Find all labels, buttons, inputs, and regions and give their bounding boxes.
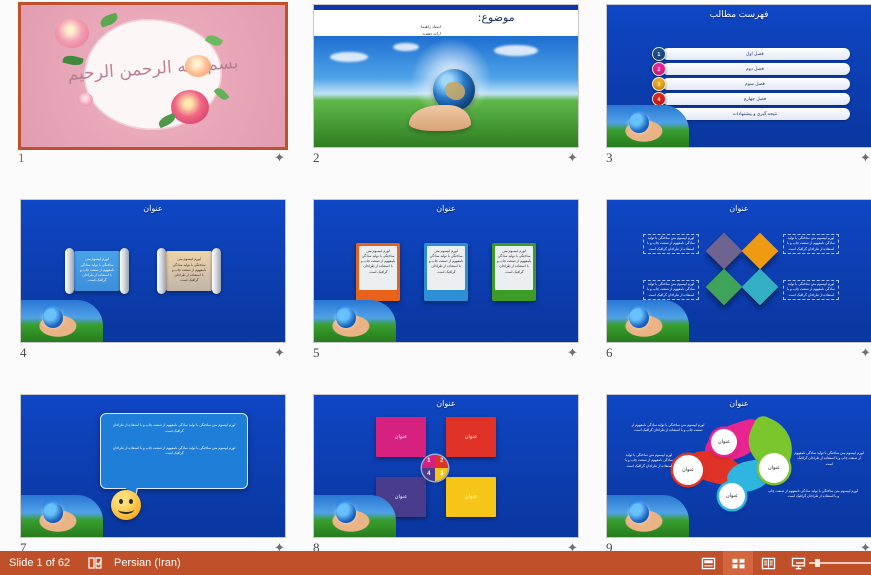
slide-4-canvas: عنوان لورم ایپسوم متن ساختگی با تولید سا… <box>21 200 285 342</box>
slide-9-canvas: عنوان عنوان عنوان عنوان عنوان <box>607 395 871 537</box>
cloud-icon <box>330 52 368 62</box>
diamond-caption: لورم ایپسوم متن ساختگی با تولید سادگی نا… <box>643 234 699 254</box>
slide-3-frame[interactable]: فهرست مطالب فصل اول 1 فصل دوم 2 <box>606 4 871 148</box>
swirl-node[interactable]: عنوان <box>719 483 745 509</box>
zoom-control[interactable] <box>796 551 871 575</box>
toc-item[interactable]: فصل اول 1 <box>652 48 850 61</box>
star-icon[interactable]: ✦ <box>566 541 579 551</box>
slide-4-meta: 4 ✦ <box>20 345 286 363</box>
slide-thumbnail-2[interactable]: موضوع: استاد راهنما: ارائه دهنده: 2 ✦ <box>307 0 587 170</box>
slide-1-frame[interactable]: بسم الله الرحمن الرحیم <box>18 2 288 150</box>
flower-bud-icon <box>79 93 93 106</box>
toc-item[interactable]: فصل سوم 3 <box>652 78 850 91</box>
slide-thumbnail-8[interactable]: عنوان عنوان عنوان عنوان عنوان 1 <box>307 390 587 551</box>
toc-badge: 4 <box>652 92 666 106</box>
slide-6-meta: 6 ✦ <box>606 345 871 363</box>
slide-9-frame[interactable]: عنوان عنوان عنوان عنوان عنوان <box>606 394 871 538</box>
view-buttons <box>693 551 813 575</box>
quadrant-label: عنوان <box>446 494 496 500</box>
content-card[interactable]: لورم ایپسوم متن ساختگی با تولید سادگی نا… <box>356 243 400 301</box>
slide-2-meta: 2 ✦ <box>313 150 579 168</box>
globe-in-hand-icon <box>607 300 689 342</box>
slide-number: 9 <box>606 540 613 551</box>
swirl-node[interactable]: عنوان <box>673 455 703 485</box>
cloud-icon <box>393 43 419 51</box>
slide-4-frame[interactable]: عنوان لورم ایپسوم متن ساختگی با تولید سا… <box>20 199 286 343</box>
hub-number: 2 <box>435 455 448 468</box>
slide-number: 2 <box>313 150 320 166</box>
toc-item-label: فصل دوم <box>666 63 844 75</box>
toc-badge: 2 <box>652 62 666 76</box>
presenter-label: ارائه دهنده: <box>420 31 441 38</box>
card-body-text: لورم ایپسوم متن ساختگی با تولید سادگی نا… <box>496 249 532 275</box>
powerpoint-slide-sorter-window: بسم الله الرحمن الرحیم 1 ✦ <box>0 0 871 575</box>
language-indicator[interactable]: Persian (Iran) <box>114 551 181 575</box>
quadrant-card[interactable]: عنوان <box>376 417 426 457</box>
flower-icon <box>55 18 89 48</box>
flower-icon <box>171 90 209 124</box>
zoom-slider[interactable] <box>809 562 871 564</box>
toc-badge: 1 <box>652 47 666 61</box>
slide-8-meta: 8 ✦ <box>313 540 579 551</box>
swirl-node-label: عنوان <box>711 429 737 455</box>
smiley-face-icon <box>111 490 141 520</box>
slide-thumbnail-7[interactable]: لورم ایپسوم متن ساختگی با تولید سادگی نا… <box>14 390 294 551</box>
swirl-caption: لورم ایپسوم متن ساختگی با تولید سادگی نا… <box>631 423 705 434</box>
slide-thumbnail-6[interactable]: عنوان لورم ایپسوم متن ساختگی با تولید سا… <box>600 195 871 365</box>
globe-in-hand-icon <box>21 300 103 342</box>
slide-thumbnail-5[interactable]: عنوان لورم ایپسوم متن ساختگی با تولید سا… <box>307 195 587 365</box>
star-icon[interactable]: ✦ <box>566 151 579 164</box>
zoom-slider-handle[interactable] <box>815 559 820 567</box>
slide-5-canvas: عنوان لورم ایپسوم متن ساختگی با تولید سا… <box>314 200 578 342</box>
slide-number: 1 <box>18 150 25 166</box>
slide-3-canvas: فهرست مطالب فصل اول 1 فصل دوم 2 <box>607 5 871 147</box>
swirl-caption: لورم ایپسوم متن ساختگی با تولید سادگی نا… <box>767 489 859 500</box>
toc-item-label: فصل چهارم <box>666 93 844 105</box>
diamond-caption: لورم ایپسوم متن ساختگی با تولید سادگی نا… <box>643 280 699 300</box>
slide-5-frame[interactable]: عنوان لورم ایپسوم متن ساختگی با تولید سا… <box>313 199 579 343</box>
swirl-node-label: عنوان <box>759 453 789 483</box>
status-bar: Slide 1 of 62 Persian (Iran) <box>0 551 871 575</box>
scroll-rod-icon <box>65 248 74 294</box>
slide-7-canvas: لورم ایپسوم متن ساختگی با تولید سادگی نا… <box>21 395 285 537</box>
swirl-node[interactable]: عنوان <box>711 429 737 455</box>
slide-thumbnail-3[interactable]: فهرست مطالب فصل اول 1 فصل دوم 2 <box>600 0 871 170</box>
toc-item-label: فصل سوم <box>666 78 844 90</box>
swirl-node-label: عنوان <box>719 483 745 509</box>
slide-2-top-bar <box>314 5 578 10</box>
slide-5-meta: 5 ✦ <box>313 345 579 363</box>
eye-shape <box>129 499 133 504</box>
slide-8-canvas: عنوان عنوان عنوان عنوان عنوان 1 <box>314 395 578 537</box>
slide-number: 7 <box>20 540 27 551</box>
slide-6-canvas: عنوان لورم ایپسوم متن ساختگی با تولید سا… <box>607 200 871 342</box>
slide-thumbnail-1[interactable]: بسم الله الرحمن الرحیم 1 ✦ <box>14 0 294 170</box>
globe-in-hand-icon <box>314 495 396 537</box>
scroll-rod-icon <box>157 248 166 294</box>
globe-in-hand-icon <box>607 495 689 537</box>
slide-title: عنوان <box>21 204 285 213</box>
slide-number: 4 <box>20 345 27 361</box>
toc-item[interactable]: فصل دوم 2 <box>652 63 850 76</box>
center-hub: 1 2 3 4 <box>422 455 448 481</box>
content-card[interactable]: لورم ایپسوم متن ساختگی با تولید سادگی نا… <box>424 243 468 301</box>
globe-in-hand-photo <box>314 36 578 147</box>
topic-title: موضوع: <box>478 11 515 24</box>
hub-number: 1 <box>422 455 435 468</box>
leaf-icon <box>213 86 229 103</box>
slide-8-frame[interactable]: عنوان عنوان عنوان عنوان عنوان 1 <box>313 394 579 538</box>
slide-2-header-band <box>314 10 578 36</box>
quadrant-card[interactable]: عنوان <box>446 417 496 457</box>
swirl-caption: لورم ایپسوم متن ساختگی با تولید سادگی نا… <box>793 451 865 467</box>
normal-view-icon[interactable] <box>693 551 723 575</box>
supervisor-label: استاد راهنما: <box>420 24 441 31</box>
slide-thumbnail-4[interactable]: عنوان لورم ایپسوم متن ساختگی با تولید سا… <box>14 195 294 365</box>
star-icon[interactable]: ✦ <box>273 151 286 164</box>
supervisor-and-presenter: استاد راهنما: ارائه دهنده: <box>420 24 441 38</box>
slide-number: 8 <box>313 540 320 551</box>
toc-item-label: فصل اول <box>666 48 844 60</box>
globe-in-hand-icon <box>607 105 689 147</box>
quadrant-card[interactable]: عنوان <box>446 477 496 517</box>
slide-3-meta: 3 ✦ <box>606 150 871 168</box>
quadrant-label: عنوان <box>446 434 496 440</box>
slide-number: 6 <box>606 345 613 361</box>
hand-icon <box>409 105 471 131</box>
scroll-left: لورم ایپسوم متن ساختگی با تولید سادگی نا… <box>65 248 129 294</box>
slide-2-frame[interactable]: موضوع: استاد راهنما: ارائه دهنده: <box>313 4 579 148</box>
card-body-text: لورم ایپسوم متن ساختگی با تولید سادگی نا… <box>360 249 396 275</box>
swirl-node-label: عنوان <box>673 455 703 485</box>
slide-counter[interactable]: Slide 1 of 62 <box>9 551 70 575</box>
scroll-rod-icon <box>120 248 129 294</box>
book-check-icon[interactable] <box>88 556 104 570</box>
content-card[interactable]: لورم ایپسوم متن ساختگی با تولید سادگی نا… <box>492 243 536 301</box>
hub-number: 4 <box>422 468 435 481</box>
slide-7-meta: 7 ✦ <box>20 540 286 551</box>
scroll-rod-icon <box>212 248 221 294</box>
slide-title: عنوان <box>607 204 871 213</box>
scroll-body-text: لورم ایپسوم متن ساختگی با تولید سادگی نا… <box>171 257 207 283</box>
swirl-node[interactable]: عنوان <box>759 453 789 483</box>
slide-6-frame[interactable]: عنوان لورم ایپسوم متن ساختگی با تولید سا… <box>606 199 871 343</box>
swirl-caption: لورم ایپسوم متن ساختگی با تولید سادگی نا… <box>621 453 677 469</box>
globe-in-hand-icon <box>21 495 103 537</box>
slide-number: 3 <box>606 150 613 166</box>
toc-item-label: نتیجه گیری و پیشنهادات <box>666 108 844 120</box>
zoom-out-icon[interactable] <box>796 562 805 564</box>
slide-title: عنوان <box>607 399 871 408</box>
slide-1-background: بسم الله الرحمن الرحیم <box>21 5 285 147</box>
scroll-right: لورم ایپسوم متن ساختگی با تولید سادگی نا… <box>157 248 221 294</box>
card-body-text: لورم ایپسوم متن ساختگی با تولید سادگی نا… <box>428 249 464 275</box>
slide-2-canvas: موضوع: استاد راهنما: ارائه دهنده: <box>314 5 578 147</box>
slide-sorter-pane[interactable]: بسم الله الرحمن الرحیم 1 ✦ <box>0 0 871 551</box>
flower-icon <box>185 55 211 77</box>
slide-number: 5 <box>313 345 320 361</box>
diamond-caption: لورم ایپسوم متن ساختگی با تولید سادگی نا… <box>783 234 839 254</box>
bubble-paragraph-1: لورم ایپسوم متن ساختگی با تولید سادگی نا… <box>111 423 237 434</box>
star-icon[interactable]: ✦ <box>859 346 871 359</box>
slide-sorter-icon[interactable] <box>723 551 753 575</box>
speech-bubble: لورم ایپسوم متن ساختگی با تولید سادگی نا… <box>100 413 248 488</box>
slide-1-canvas: بسم الله الرحمن الرحیم <box>21 5 285 147</box>
bubble-paragraph-2: لورم ایپسوم متن ساختگی با تولید سادگی نا… <box>111 446 237 457</box>
toc-list: فصل اول 1 فصل دوم 2 فصل سوم 3 <box>652 48 850 123</box>
slide-thumbnail-9[interactable]: عنوان عنوان عنوان عنوان عنوان <box>600 390 871 551</box>
star-icon[interactable]: ✦ <box>859 541 871 551</box>
star-icon[interactable]: ✦ <box>273 346 286 359</box>
eye-shape <box>119 499 123 504</box>
slide-1-meta: 1 ✦ <box>20 150 286 168</box>
star-icon[interactable]: ✦ <box>859 151 871 164</box>
quadrant-label: عنوان <box>376 434 426 440</box>
toc-item[interactable]: فصل چهارم 4 <box>652 93 850 106</box>
slide-title: عنوان <box>314 204 578 213</box>
scroll-body-text: لورم ایپسوم متن ساختگی با تولید سادگی نا… <box>79 257 115 283</box>
diamond-caption: لورم ایپسوم متن ساختگی با تولید سادگی نا… <box>783 280 839 300</box>
globe-in-hand-icon <box>314 300 396 342</box>
star-icon[interactable]: ✦ <box>566 346 579 359</box>
slide-title: عنوان <box>314 399 578 408</box>
slide-9-meta: 9 ✦ <box>606 540 871 551</box>
mouth-shape <box>118 505 134 514</box>
star-icon[interactable]: ✦ <box>273 541 286 551</box>
toc-title: فهرست مطالب <box>607 9 871 20</box>
slide-7-frame[interactable]: لورم ایپسوم متن ساختگی با تولید سادگی نا… <box>20 394 286 538</box>
reading-view-icon[interactable] <box>753 551 783 575</box>
hub-number: 3 <box>435 468 448 481</box>
cloud-icon <box>494 45 538 56</box>
toc-badge: 3 <box>652 77 666 91</box>
